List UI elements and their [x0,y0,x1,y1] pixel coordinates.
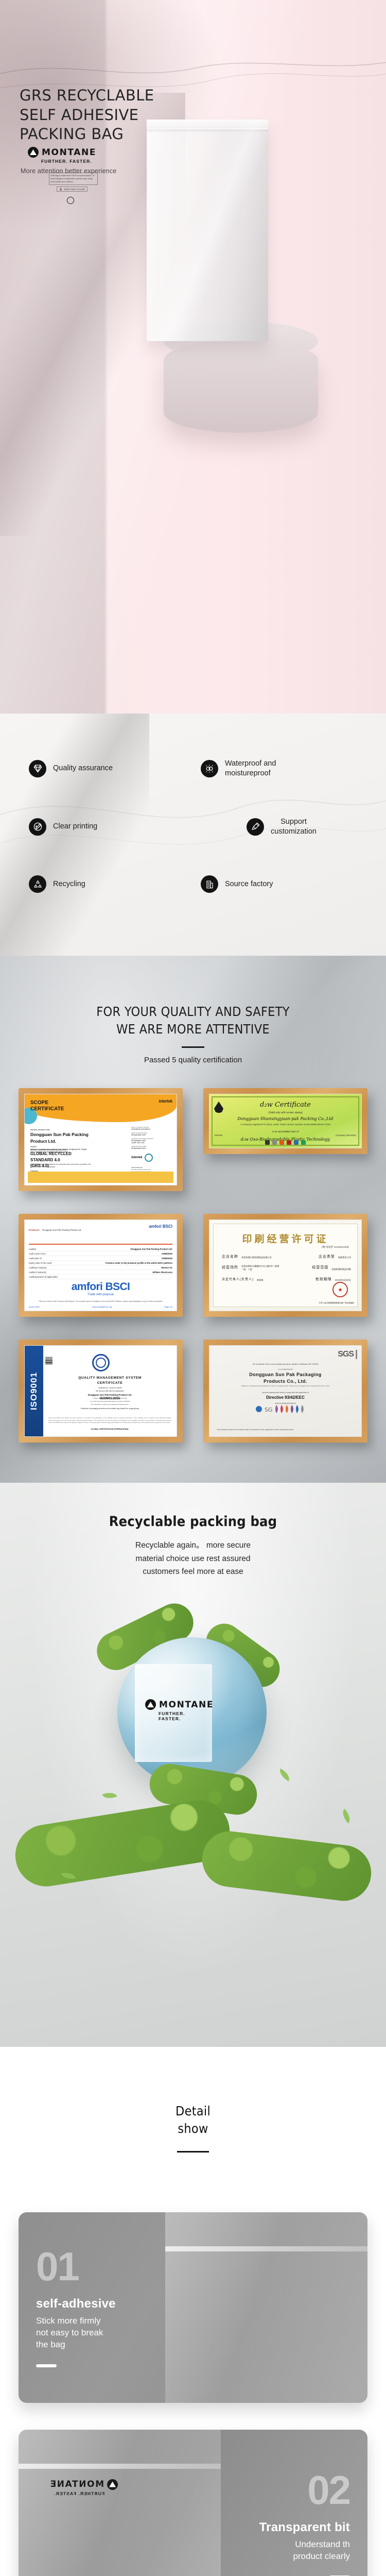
moss-bed-right [199,1828,375,1904]
iso-heading-line-1: QUALITY MANAGEMENT SYSTEM [47,1376,172,1381]
pencil-customization-icon [247,818,264,836]
certificates-grid: SCOPE CERTIFICATE intertek Intertek decl… [0,1064,386,1443]
certifications-section: FOR YOUR QUALITY AND SAFETY WE ARE MORE … [0,956,386,1483]
scope-field-value-1: 08 September 2023 [131,1134,172,1136]
detail-title-line-2: show [0,2120,386,2138]
brand-tagline: FURTHER. FASTER. [41,159,105,164]
bag-recycle-label: 100% RECYCLED [64,188,85,191]
hero-title-line-2: SELF ADHESIVE [20,106,154,125]
row-value: 2022年04月30日 [335,1279,351,1282]
row-label: Audit Cycle From: [29,1252,46,1255]
hero-title-line-3: PACKING BAG [20,125,154,144]
table-row: 企业名称 东莞市顺兴源包装制品有限公司 企业类型 有限责任公司 [222,1254,351,1259]
printing-licence-heading: 印刷经营许可证 [209,1231,361,1245]
detail-card-dash [36,2364,57,2367]
table-row: Auditing Branch (if applicable): [29,1275,172,1279]
recyclable-description: Recyclable again。 more secure material c… [0,1539,386,1579]
certificate-frame-sgs[interactable]: SGS CB Certificate First of and Quality … [203,1340,367,1443]
d2w-heading: d₂w Certificate [209,1101,361,1109]
divider [29,1244,172,1245]
feature-item-waterproof[interactable]: Waterproof and moistureproof [201,759,362,778]
row-label: Auditing Branch (if applicable): [29,1276,58,1278]
detail-card-title: self-adhesive [36,2297,162,2311]
iso-heading-line-2: CERTIFICATE [47,1381,172,1386]
row-value: Dongguan Sun Pak Packing Product Ltd. [131,1248,172,1250]
d2w-validity-note: (Valid only with screen stamp) [209,1111,361,1114]
feature-label: Quality assurance [53,764,113,773]
table-row: Auditee:Dongguan Sun Pak Packing Product… [29,1247,172,1251]
montane-mountain-icon [107,2479,118,2490]
certificate-printing-licence: 印刷经营许可证 (粤) 印证字 4419000106号 企业名称 东莞市顺兴源包… [209,1219,362,1311]
leaf-icon [277,1768,292,1781]
amfori-footer-note: This is an extract of the Producer Audit… [31,1300,170,1303]
grs-seal-icon [145,1154,153,1162]
amfori-audit-rows: Auditee:Dongguan Sun Pak Packing Product… [29,1247,172,1279]
sgs-header-note: CB Certificate First of and Quality Assu… [215,1363,356,1365]
d2w-accredited-label: is an accredited user of [209,1130,361,1133]
certificate-amfori-bsci: Producer: Dongguan Sun Pak Packing Produ… [24,1219,177,1311]
printing-licence-rows: 企业名称 东莞市顺兴源包装制品有限公司 企业类型 有限责任公司 经营场所 东莞市… [222,1254,351,1287]
row-value: 有限责任公司 [338,1256,351,1259]
iso-scope-label: The certificate is valid for the followi… [48,1403,171,1405]
amfori-tagline: Trade with purpose [25,1293,177,1296]
feature-label: Source factory [225,879,273,889]
row-label: Auditee: [29,1248,37,1250]
leaf-icon [102,1790,117,1801]
recycle-icon [59,188,62,191]
printing-licence-number-label: (粤) 印证字 [322,1246,333,1248]
detail-card-number: 02 [307,2471,350,2509]
table-row: Auditing Company:Bureau SA [29,1265,172,1270]
feature-item-quality-assurance[interactable]: Quality assurance [29,759,190,778]
d2w-registration: A company registered in China, under Tra… [209,1123,361,1126]
certificate-iso9001: ISO9001 QUALITY MANAGEMENT SYSTEM CERTIF… [24,1345,177,1437]
row-label: Auditing Company: [29,1266,47,1269]
sgs-directive: Directive 93/42/EEC [209,1395,361,1400]
brand-name: MONTANE [49,2479,104,2489]
official-seal-icon [332,1282,348,1297]
features-grid: Quality assurance Waterproof and moistur… [0,714,386,893]
iso-company: Dongguan Sun Pak Packing Product Ltd. [48,1394,171,1396]
feature-item-recycling[interactable]: Recycling [29,875,190,893]
detail-title-line-1: Detail [0,2103,386,2120]
iso-conformity: our conformity with Quality Management S… [48,1400,171,1402]
scope-footer-band [28,1172,173,1183]
brand-tagline: FURTHER. FASTER. [159,1711,202,1721]
d2w-company: Dongguan Shunxingyuan-pak Packing Co.,Lt… [209,1116,361,1121]
svg-text:SG: SG [265,1406,273,1413]
certificate-frame-printing-licence[interactable]: 印刷经营许可证 (粤) 印证字 4419000106号 企业名称 东莞市顺兴源包… [203,1214,367,1317]
certificate-frame-amfori[interactable]: Producer: Dongguan Sun Pak Packing Produ… [19,1214,183,1317]
row-label: Audit Date To: [29,1257,42,1260]
moss-bed-left [11,1796,234,1891]
brand-name: MONTANE [159,1700,214,1710]
page-title: GRS RECYCLABLE SELF ADHESIVE PACKING BAG [20,86,154,144]
detail-show-header: Detail show [0,2047,386,2176]
sgs-watermark-icon: SG [209,1402,361,1416]
product-detail-page: GRS RECYCLABLE SELF ADHESIVE PACKING BAG… [0,0,386,2576]
recyclable-desc-line-3: customers feel more at ease [0,1565,386,1579]
d2w-partner-logos [209,1139,361,1146]
iso-cert-no: 20210217-52005 [109,1387,121,1389]
sgs-assessment: has been assessed and found to comply wi… [209,1392,361,1394]
certificate-sgs: SGS CB Certificate First of and Quality … [209,1345,362,1437]
iso-standard: ISO9001:2015 [47,1397,172,1400]
podium [164,340,318,433]
amfori-bsci-wordmark: amfori BSCI [25,1281,177,1293]
detail-card-description: Stick more firmly not easy to break the … [36,2315,162,2351]
waterproof-icon [201,760,218,777]
table-row: 经营场所 东莞市樟木头横磪村兴丰三路3号一栋第一层、二层 经营范围 包装装潢印刷… [222,1265,351,1271]
iso-footer-org: GLOBAL CERTIFICATION INTERNATIONAL [48,1428,171,1430]
leaf-icon [339,1809,354,1824]
amfori-footer-site: www.bsciplatform.org [92,1306,112,1308]
detail-card-number: 01 [36,2247,162,2285]
certifications-title-line-2: WE ARE MORE ATTENTIVE [0,1021,386,1038]
scope-standard-1: GLOBAL RECYCLED STANDARD 4.0 [30,1151,92,1162]
feature-label: Waterproof and moistureproof [225,759,276,778]
divider [177,2151,209,2153]
detail-card-overlay-logo: MONTANE FURTHER. FASTER. [49,2479,118,2496]
features-section: Quality assurance Waterproof and moistur… [0,714,386,956]
sgs-for-label: is to certify that the [209,1368,361,1370]
factory-icon [201,875,218,893]
certificate-frame-iso9001[interactable]: ISO9001 QUALITY MANAGEMENT SYSTEM CERTIF… [19,1340,183,1443]
montane-mountain-icon [145,1699,156,1710]
amfori-footer-left: amfori BSCI [29,1306,40,1308]
recyclable-desc-line-1: Recyclable again。 more secure [0,1539,386,1552]
scope-company: Dongguan Sun Pak Packing Product Ltd. [30,1131,91,1145]
printing-brush-icon [29,818,46,836]
iso-footer-note: Hong Kong, Macao and Taiwan and other co… [48,1417,171,1425]
iso-scope: Production of packaging products such as… [48,1408,171,1410]
table-row: 法定代表人(负责人) 胡君梅 有效期限 2022年04月30日 [222,1277,351,1282]
row-value: 包装装潢印刷品印刷 [331,1268,351,1271]
detail-card-02[interactable]: MONTANE FURTHER. FASTER. 02 Transparent … [19,2430,367,2576]
recyclable-section: Recyclable packing bag Recyclable again。… [0,1483,386,2047]
desc-line: product clearly [293,2551,350,2563]
amfori-logo-text: amfori BSCI [149,1224,172,1229]
table-row: Expiry Date of the Audit:Produce order t… [29,1261,172,1265]
d2w-role-right: Company Secretary [336,1134,356,1137]
scope-issuer-logo: intertek [159,1099,173,1104]
amfori-producer-label: Producer: [29,1229,40,1231]
recyclable-title: Recyclable packing bag [0,1483,386,1530]
certificate-frame-scope[interactable]: SCOPE CERTIFICATE intertek Intertek decl… [19,1088,183,1191]
certifications-title-line-1: FOR YOUR QUALITY AND SAFETY [0,1003,386,1021]
detail-card-01[interactable]: 01 self-adhesive Stick more firmly not e… [19,2212,367,2403]
row-value: Produce order to the producer profile in… [106,1262,172,1264]
row-label: 经营范围 [312,1265,328,1271]
row-label: 法定代表人(负责人) [222,1277,254,1282]
desc-line: Understand th [293,2539,350,2551]
sgs-address: Building 11, Xuanfeng New Industrial Zon… [218,1385,353,1387]
row-value: William Zhou/Laura [152,1271,172,1274]
iso-certify-label: We hereby certify that the organization [48,1390,171,1392]
desc-line: Stick more firmly [36,2315,162,2327]
certificate-scope: SCOPE CERTIFICATE intertek Intertek decl… [24,1094,177,1185]
desc-line: the bag [36,2339,162,2351]
row-value: 东莞市樟木头横磪村兴丰三路3号一栋第一层、二层 [241,1265,279,1271]
montane-mountain-icon [28,147,39,158]
amfori-word: amfori BSCI [72,1281,130,1293]
printing-licence-number: 4419000106号 [334,1246,349,1248]
bag-brand-logo: MONTANE FURTHER. FASTER. [28,147,105,164]
hero-section: GRS RECYCLABLE SELF ADHESIVE PACKING BAG… [0,0,386,714]
scope-field-value-3: 08 September 2024 [131,1147,172,1149]
scope-heading-line-1: SCOPE [30,1100,64,1106]
bag-seal-icon [67,197,74,204]
table-row: Audit Cycle From:03/08/2020 [29,1251,172,1256]
detail-cards-section: 01 self-adhesive Stick more firmly not e… [0,2176,386,2576]
amfori-producer: Dongguan Sun Pak Packing Product Ltd. [42,1229,81,1231]
detail-card-title: Transparent bit [259,2520,350,2535]
qr-code-icon [45,1357,52,1364]
feature-item-source-factory[interactable]: Source factory [201,875,362,893]
feature-label: Support customization [271,817,317,836]
bag-sheen [147,120,268,341]
brand-name: MONTANE [42,147,96,158]
globe-brand-logo: MONTANE FURTHER. FASTER. [145,1699,202,1721]
bag-recycle-note: 100% RECYCLED [57,187,87,192]
row-label: 企业类型 [319,1254,335,1259]
feature-item-support-customization[interactable]: Support customization [201,817,362,836]
table-row: Audit Date To:03/08/2020 [29,1256,172,1261]
product-bag-image [147,120,268,341]
detail-card-text: 02 Transparent bit Understand th product… [207,2430,367,2576]
diamond-icon [29,760,46,777]
row-label: Auditor's Name(s): [29,1271,47,1274]
amfori-page: Page 1/5 [164,1306,172,1308]
row-value: 东莞市顺兴源包装制品有限公司 [241,1256,272,1259]
feature-label: Clear printing [53,822,97,832]
amfori-logo: amfori BSCI [149,1224,172,1229]
hero-title-line-1: GRS RECYCLABLE [20,86,154,106]
row-value: 胡君梅 [257,1279,264,1282]
row-value: 03/08/2020 [162,1257,172,1260]
detail-card-image [165,2212,367,2403]
row-label: 企业名称 [222,1254,238,1259]
row-label: Expiry Date of the Audit: [29,1262,52,1264]
recyclable-desc-line-2: material choice use rest assured [0,1552,386,1566]
row-label: 经营场所 [222,1265,238,1271]
certifications-header: FOR YOUR QUALITY AND SAFETY WE ARE MORE … [0,1003,386,1064]
scope-meta-fields: Scope Certificate Number: 2310095GB-2CZG… [131,1126,172,1173]
row-value: Bureau SA [162,1266,172,1269]
detail-card-image [19,2430,221,2576]
iso-cert-no-label: Certificate No.: [98,1387,109,1389]
certificate-frame-d2w[interactable]: d₂w Certificate (Valid only with screen … [203,1088,367,1154]
scope-field-value-2: 08 September 2023 Lowell, USA, USA [131,1140,172,1144]
certificate-d2w: d₂w Certificate (Valid only with screen … [209,1094,362,1148]
feature-item-clear-printing[interactable]: Clear printing [29,817,190,836]
divider [182,1046,204,1048]
table-row: Auditor's Name(s):William Zhou/Laura [29,1270,172,1275]
certifications-subtitle: Passed 5 quality certification [0,1056,386,1064]
scope-heading-line-2: CERTIFICATE [30,1106,64,1112]
detail-card-description: Understand th product clearly [293,2539,350,2563]
scope-field-value-0: 2310095GB-2CZG303101 [131,1128,172,1130]
sgs-note: This certificate is issued in accordance… [217,1429,354,1431]
scope-conformity: and that products of the categories as m… [30,1163,92,1168]
detail-card-text: 01 self-adhesive Stick more firmly not e… [19,2212,179,2403]
sgs-company-line-1: Dongguan Sun Pak Packaging [209,1371,361,1378]
printing-licence-issuer: 中华人民共和国国家新闻出版广电总局监制 [319,1302,354,1304]
sgs-company-line-2: Products Co., Ltd. [209,1378,361,1385]
row-value: 03/08/2020 [162,1252,172,1255]
brand-tagline: FURTHER. FASTER. [49,2491,104,2496]
scope-issuer-mark: intertek [131,1156,143,1159]
bag-small-print: This bag is made from 100% recycled plas… [49,173,98,185]
iso-band-text: ISO9001 [29,1372,39,1410]
desc-line: not easy to break [36,2327,162,2339]
d2w-role-left: Director [215,1134,223,1137]
sgs-logo: SGS [338,1350,357,1359]
feature-label: Recycling [53,879,85,889]
row-label: 有效期限 [315,1277,332,1282]
recycle-icon [29,875,46,893]
